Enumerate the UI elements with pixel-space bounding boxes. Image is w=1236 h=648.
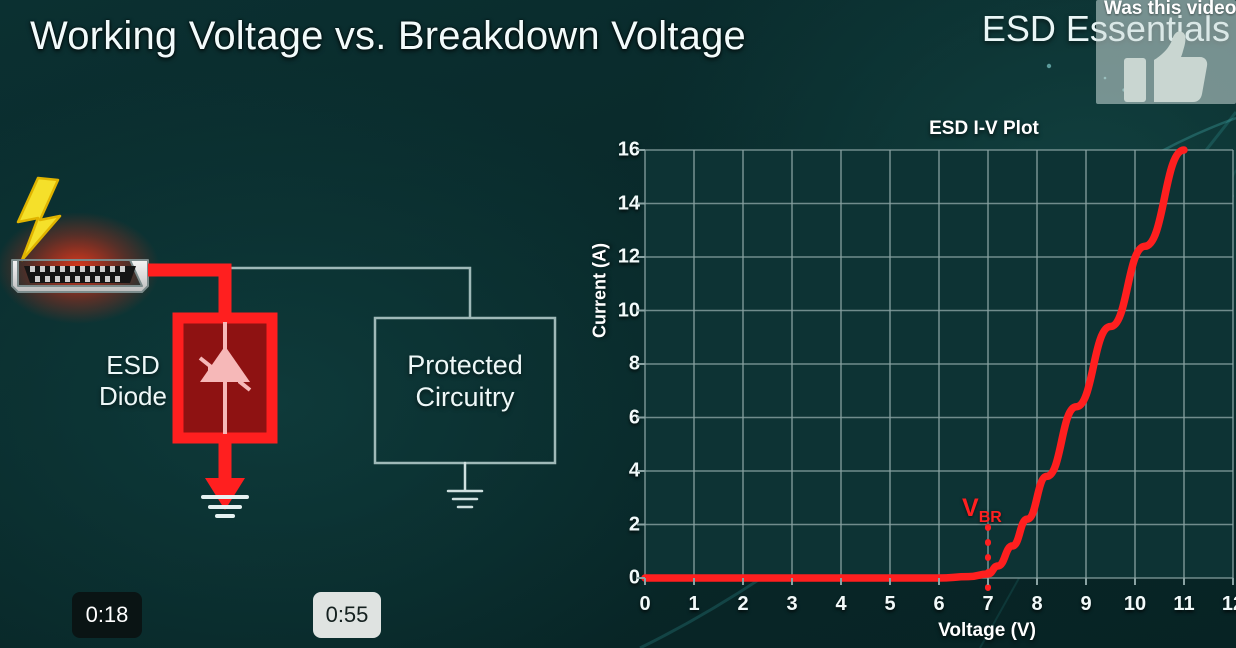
circuit-diagram: ESD Diode Protected Circuitry bbox=[0, 150, 600, 570]
protected-circuitry-label: Protected Circuitry bbox=[378, 350, 552, 414]
thumbs-up-icon[interactable] bbox=[1124, 30, 1208, 104]
survey-question: Was this video bbox=[1104, 0, 1236, 20]
slide-root: Working Voltage vs. Breakdown Voltage ES… bbox=[0, 0, 1236, 648]
timestamp-total[interactable]: 0:55 bbox=[313, 592, 381, 638]
chart-plot-area bbox=[578, 108, 1236, 648]
esd-diode-label: ESD Diode bbox=[78, 350, 188, 411]
esd-iv-chart: ESD I-V Plot Current (A) Voltage (V) 024… bbox=[578, 108, 1236, 648]
esd-diode-label-line2: Diode bbox=[78, 381, 188, 412]
protected-ground-icon bbox=[448, 463, 482, 507]
page-title: Working Voltage vs. Breakdown Voltage bbox=[30, 14, 746, 59]
vbr-label-main: V bbox=[962, 494, 979, 522]
vbr-label-sub: BR bbox=[979, 509, 1002, 526]
breakdown-voltage-annotation: VBR bbox=[962, 494, 1002, 527]
protected-circuitry-label-line2: Circuitry bbox=[378, 382, 552, 414]
esd-diode-component[interactable] bbox=[178, 318, 272, 438]
protected-circuitry-label-line1: Protected bbox=[378, 350, 552, 382]
timestamp-current[interactable]: 0:18 bbox=[72, 592, 142, 638]
survey-overlay[interactable]: Was this video bbox=[1096, 0, 1236, 104]
esd-diode-label-line1: ESD bbox=[78, 350, 188, 381]
signal-wire bbox=[230, 268, 470, 318]
